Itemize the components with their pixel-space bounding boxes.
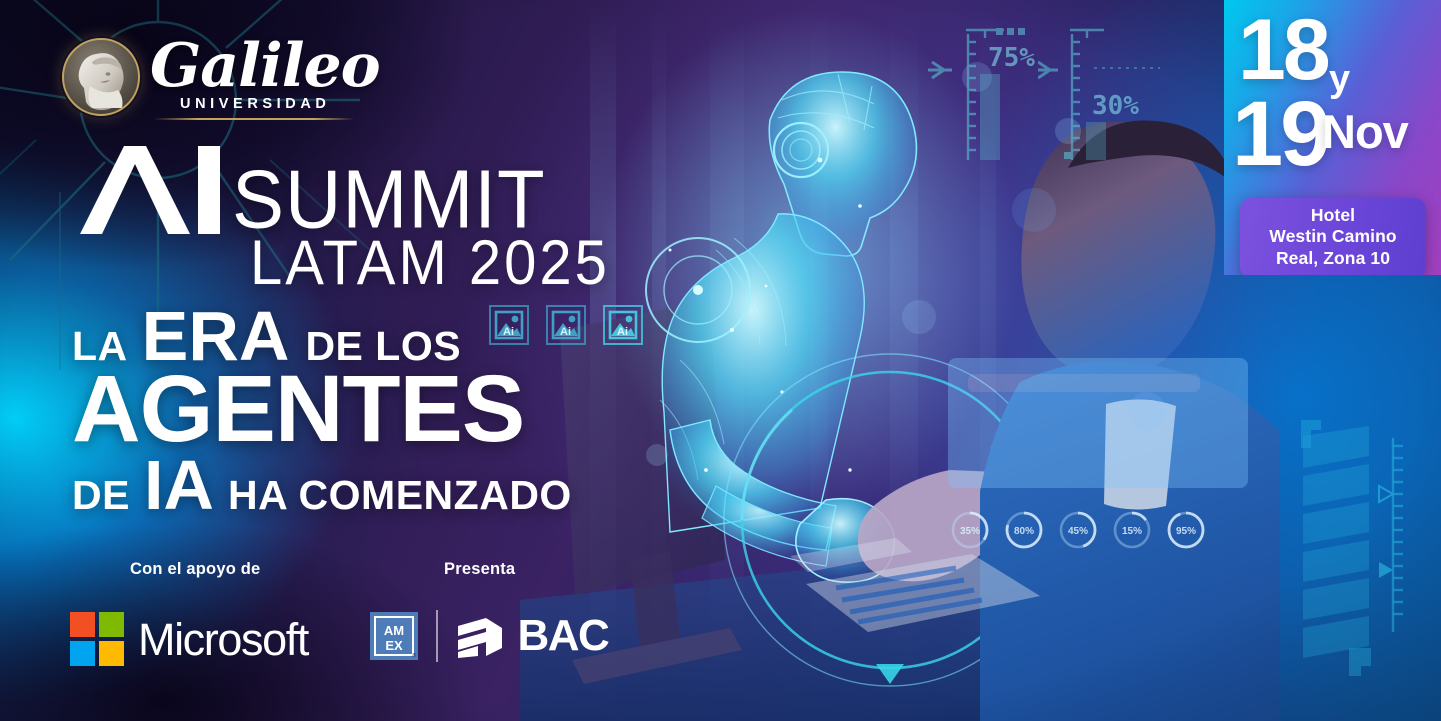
galileo-wordmark: Galileo — [150, 36, 380, 96]
hud-circular-gauges: 35% 80% 45% 15% 95% — [948, 508, 1208, 552]
microsoft-logo[interactable]: Microsoft — [70, 612, 308, 666]
galileo-bust-icon — [70, 48, 132, 112]
date-day-2: 19 — [1232, 95, 1328, 174]
venue-badge: Hotel Westin Camino Real, Zona 10 — [1240, 198, 1426, 275]
date-day-1: 18 — [1238, 14, 1328, 88]
svg-text:AM: AM — [384, 623, 404, 638]
svg-text:45%: 45% — [1068, 526, 1088, 537]
event-tagline: LA ERA DE LOS AGENTES DE IA HA COMENZADO — [72, 296, 572, 525]
galileo-bust-medallion — [62, 38, 140, 116]
tagline-de: DE — [72, 472, 130, 519]
tagline-ia: IA — [144, 445, 214, 525]
svg-text:95%: 95% — [1176, 526, 1196, 537]
venue-line-3: Real, Zona 10 — [1246, 248, 1420, 269]
galileo-subtitle: UNIVERSIDAD — [180, 96, 331, 112]
ai-image-icon: Ai — [603, 305, 643, 345]
venue-line-2: Westin Camino — [1246, 226, 1420, 247]
svg-text:EX: EX — [385, 638, 403, 653]
circular-gauge: 15% — [1110, 508, 1154, 552]
circular-gauge: 45% — [1056, 508, 1100, 552]
svg-text:80%: 80% — [1014, 526, 1034, 537]
galileo-logo-underline — [154, 118, 354, 120]
hud-right-edge — [1291, 390, 1441, 721]
event-date-panel: 18 y 19 Nov Hotel Westin Camino Real, Zo… — [1224, 0, 1441, 275]
tagline-agentes: AGENTES — [72, 356, 524, 462]
amex-mark-icon: AM EX — [370, 612, 418, 660]
tagline-line-2: AGENTES — [72, 362, 572, 457]
sponsor-support-label: Con el apoyo de — [130, 560, 260, 579]
sponsor-presents-label: Presenta — [444, 560, 515, 579]
tagline-ha-comenzado: HA COMENZADO — [228, 472, 572, 519]
bac-wordmark: BAC — [518, 614, 609, 658]
bac-logo[interactable]: BAC — [456, 612, 609, 660]
amex-logo[interactable]: AM EX ® — [370, 612, 418, 660]
microsoft-squares-icon — [70, 612, 124, 666]
venue-line-1: Hotel — [1246, 205, 1420, 226]
ai-logo-mark — [72, 140, 232, 236]
sponsor-section: Con el apoyo de Presenta Microsoft AM EX — [70, 560, 670, 690]
circular-gauge: 95% — [1164, 508, 1208, 552]
bac-mark-icon — [456, 612, 508, 660]
svg-text:15%: 15% — [1122, 526, 1142, 537]
event-title: SUMMIT LATAM 2025 — [72, 140, 610, 290]
title-latam: LATAM 2025 — [250, 232, 610, 295]
amex-registered-mark: ® — [412, 653, 416, 659]
sponsor-divider — [436, 610, 438, 662]
galileo-university-logo[interactable]: Galileo UNIVERSIDAD — [62, 32, 372, 124]
circular-gauge: 80% — [1002, 508, 1046, 552]
hud-gauge-right: 30% — [1038, 12, 1178, 172]
date-conjunction: y — [1329, 60, 1350, 98]
svg-text:Ai: Ai — [617, 326, 628, 338]
date-month: Nov — [1322, 108, 1408, 155]
hud-gauge-right-value: 30% — [1092, 91, 1139, 121]
ai-summit-latam-banner: 75% 30% Ai Ai — [0, 0, 1441, 721]
presenting-sponsors[interactable]: AM EX ® BAC — [370, 610, 608, 662]
title-summit: SUMMIT — [232, 163, 546, 236]
svg-text:35%: 35% — [960, 526, 980, 537]
circular-gauge: 35% — [948, 508, 992, 552]
hud-gauge-left: 75% — [918, 12, 1058, 172]
hud-gauge-left-value: 75% — [988, 43, 1035, 73]
microsoft-wordmark: Microsoft — [138, 617, 308, 662]
